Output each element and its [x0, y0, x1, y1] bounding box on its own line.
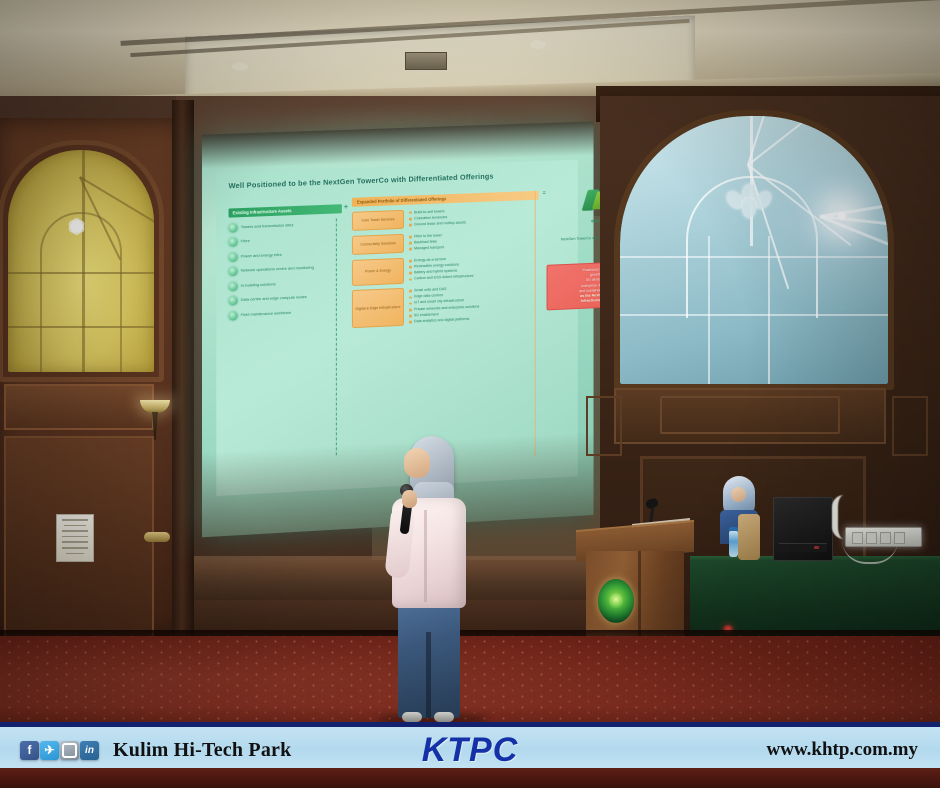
- seated-sleeve: [738, 514, 760, 560]
- leaf-icon: [229, 281, 238, 290]
- green-item-label: Network operations centre and monitoring: [241, 264, 314, 274]
- side-panel-inset: [586, 396, 622, 456]
- leaf-icon: [229, 223, 238, 232]
- leaf-icon: [229, 237, 238, 246]
- bullet-dot-icon: [409, 211, 412, 214]
- leaf-icon: [229, 252, 238, 261]
- bullet-label: Fibre to the tower: [414, 233, 442, 239]
- seated-face: [731, 487, 746, 502]
- podium-emblem: [598, 579, 634, 623]
- left-door-handle[interactable]: [144, 532, 170, 542]
- bullet-dot-icon: [409, 290, 412, 293]
- bullet-label: Renewable energy solutions: [414, 262, 459, 268]
- green-item-label: Towers and transmission sites: [241, 221, 294, 230]
- bullet-label: Energy-as-a-service: [414, 257, 446, 263]
- ceiling-downlight: [232, 62, 248, 71]
- orange-group-bullets: Energy-as-a-service Renewable energy sol…: [409, 252, 539, 283]
- water-bottle: [729, 531, 738, 557]
- presenter-shirt-placket: [424, 510, 427, 602]
- green-column-header: Existing Infrastructure Assets: [229, 204, 342, 217]
- bullet-dot-icon: [409, 296, 412, 299]
- bullet-label: Colocation tenancies: [414, 215, 447, 221]
- presenter-hand: [402, 490, 417, 508]
- orange-group-box: Digital & Edge Infrastructure: [352, 288, 404, 329]
- orange-group-box: Core Tower Services: [352, 209, 404, 231]
- bullet-label: Data analytics and digital platforms: [414, 317, 469, 324]
- green-list-item: Data centre and edge compute nodes: [229, 292, 342, 306]
- bullet-label: Edge data centres: [414, 293, 443, 299]
- bullet-label: 5G enablement: [414, 312, 438, 317]
- bullet-label: Carbon and ESG-linked infrastructure: [414, 274, 474, 281]
- bullet-dot-icon: [409, 248, 412, 251]
- green-item-label: Field maintenance workforce: [241, 308, 291, 317]
- av-equipment-case: [773, 497, 833, 561]
- bullet-dot-icon: [409, 235, 412, 238]
- window-flower-motif: [724, 182, 776, 220]
- orange-group: Power & Energy Energy-as-a-service Renew…: [352, 252, 539, 286]
- green-list-item: Field maintenance workforce: [229, 306, 342, 320]
- door-notice-paper: [56, 514, 94, 562]
- presenter-shoe: [402, 712, 422, 722]
- green-item-label: In-building solutions: [241, 280, 276, 288]
- green-list-item: Towers and transmission sites: [229, 219, 342, 233]
- door-glass-flower-motif: [60, 216, 94, 246]
- green-list-item: Power and energy infra: [229, 248, 342, 262]
- bottom-carpet-strip: [0, 768, 940, 788]
- presenter-leg-gap: [426, 632, 431, 718]
- slide-green-column: Existing Infrastructure Assets Towers an…: [229, 204, 342, 320]
- slide-orange-column: Expanded Portfolio of Differentiated Off…: [352, 191, 539, 329]
- light-flare: [838, 212, 846, 220]
- status-led: [814, 546, 819, 549]
- green-item-label: Power and energy infra: [241, 250, 282, 258]
- bullet-dot-icon: [409, 266, 412, 269]
- orange-group: Digital & Edge Infrastructure Small cell…: [352, 282, 539, 328]
- side-panel-inset: [892, 396, 928, 456]
- slide-title: Well Positioned to be the NextGen TowerC…: [229, 168, 559, 191]
- bullet-dot-icon: [409, 272, 412, 275]
- plus-symbol: +: [344, 204, 348, 211]
- orange-group-bullets: Fibre to the tower Backhaul links Manage…: [409, 228, 539, 253]
- bullet-dot-icon: [409, 308, 412, 311]
- bullet-dot-icon: [409, 278, 412, 281]
- muntin-vertical: [708, 236, 710, 384]
- right-door-arch-frame: [614, 110, 894, 390]
- bullet-label: Build-to-suit towers: [414, 209, 444, 215]
- left-door[interactable]: [0, 118, 193, 638]
- bullet-dot-icon: [409, 242, 412, 245]
- left-door-mid-panel: [4, 384, 154, 430]
- leaf-icon: [229, 296, 238, 305]
- bullet-dot-icon: [409, 315, 412, 318]
- muntin-horizontal: [620, 314, 888, 316]
- left-door-glass: [8, 150, 154, 372]
- bullet-dot-icon: [409, 321, 412, 324]
- light-flare-ray: [820, 215, 888, 288]
- column-divider-solid: [535, 191, 536, 457]
- ktpc-logo-text: KTPC: [0, 731, 940, 770]
- bullet-label: Ground lease and rooftop assets: [414, 220, 466, 226]
- seated-attendee: [716, 480, 760, 560]
- orange-group: Connectivity Solutions Fibre to the towe…: [352, 228, 539, 255]
- right-door-mid-inset: [660, 396, 840, 434]
- bullet-label: Battery and hybrid systems: [414, 269, 457, 275]
- ceiling-downlight: [530, 40, 546, 49]
- muntin-radial: [747, 116, 851, 166]
- bullet-dot-icon: [409, 260, 412, 263]
- bullet-dot-icon: [409, 302, 412, 305]
- bullet-label: Managed transport: [414, 245, 444, 251]
- right-door-glass: [620, 116, 888, 384]
- green-item-label: Data centre and edge compute nodes: [241, 293, 307, 303]
- ceiling-vent: [405, 52, 447, 70]
- bullet-label: Small cells and DAS: [414, 287, 446, 293]
- orange-group-box: Power & Energy: [352, 258, 404, 286]
- leaf-icon: [229, 311, 238, 320]
- green-list-item: In-building solutions: [229, 277, 342, 291]
- orange-group: Core Tower Services Build-to-suit towers…: [352, 204, 539, 231]
- orange-group-bullets: Build-to-suit towers Colocation tenancie…: [409, 204, 539, 229]
- light-flare-ray: [820, 185, 888, 217]
- green-item-label: Fibre: [241, 237, 250, 244]
- presenter-shoe: [434, 712, 454, 722]
- bullet-dot-icon: [409, 224, 412, 227]
- green-list-item: Network operations centre and monitoring: [229, 262, 342, 276]
- muntin-horizontal: [620, 256, 888, 258]
- presenter: [380, 436, 480, 728]
- orange-group-box: Connectivity Solutions: [352, 233, 404, 255]
- equals-symbol: =: [543, 190, 546, 196]
- column-divider-dashed: [336, 218, 337, 455]
- bullet-label: Backhaul links: [414, 239, 437, 244]
- left-door-arch-frame: [0, 140, 164, 382]
- presenter-face: [404, 448, 430, 478]
- screenshot-root: Well Positioned to be the NextGen TowerC…: [0, 0, 940, 788]
- leaf-icon: [229, 267, 238, 276]
- green-list-item: Fibre: [229, 233, 342, 247]
- muntin-vertical: [768, 236, 770, 384]
- orange-group-bullets: Small cells and DAS Edge data centres Io…: [409, 282, 539, 326]
- bullet-dot-icon: [409, 218, 412, 221]
